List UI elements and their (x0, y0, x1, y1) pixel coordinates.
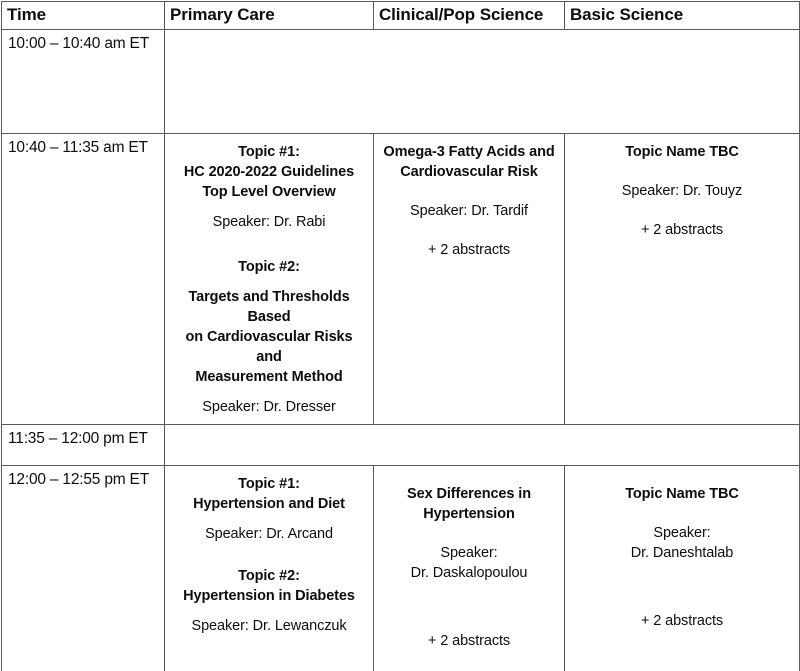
topic-label: Topic #1: (171, 474, 367, 494)
session-block-topic2: Topic #2: Hypertension in Diabetes Speak… (171, 566, 367, 636)
topic-title-line: on Cardiovascular Risks and (171, 327, 367, 367)
abstracts-count: + 2 abstracts (571, 611, 793, 631)
session-cell-clinical-pop-science: Sex Differences in Hypertension Speaker:… (374, 466, 565, 671)
time-slot-label: 12:00 – 12:55 pm ET (2, 466, 164, 489)
session-block-topic2: Topic #2: Targets and Thresholds Based o… (171, 257, 367, 417)
break-label: Break (165, 425, 799, 450)
session-title-line: Hypertension (380, 504, 558, 524)
spacer (571, 563, 793, 611)
spacer (171, 606, 367, 616)
speaker-label: Speaker: Dr. Lewanczuk (171, 616, 367, 636)
speaker-label: Speaker: Dr. Dresser (171, 397, 367, 417)
time-slot-cell: 12:00 – 12:55 pm ET (2, 466, 165, 671)
topic-title-line: HC 2020-2022 Guidelines (171, 162, 367, 182)
speaker-label: Speaker: (380, 543, 558, 563)
session-title-line: Omega-3 Fatty Acids and (380, 142, 558, 162)
column-header-clinical-pop-science-label: Clinical/Pop Science (374, 2, 564, 26)
table-header: Time Primary Care Clinical/Pop Science B… (2, 2, 800, 30)
column-header-time: Time (2, 2, 165, 30)
time-slot-cell: 11:35 – 12:00 pm ET (2, 425, 165, 466)
spacer (380, 524, 558, 543)
topic-label: Topic #2: (171, 566, 367, 586)
session-cell-basic-science: Topic Name TBC Speaker: Dr. Touyz + 2 ab… (565, 134, 800, 425)
session-title-line: Sex Differences in (380, 484, 558, 504)
column-header-primary-care: Primary Care (165, 2, 374, 30)
table-row: 12:00 – 12:55 pm ET Topic #1: Hypertensi… (2, 466, 800, 671)
spacer (571, 474, 793, 484)
speaker-label: Speaker: Dr. Arcand (171, 524, 367, 544)
spacer (571, 504, 793, 523)
abstracts-count: + 2 abstracts (571, 220, 793, 240)
table-row: 11:35 – 12:00 pm ET Break (2, 425, 800, 466)
break-banner-cell: Break (165, 425, 800, 466)
spacer (171, 514, 367, 524)
plenary-banner-cell: Opening Plenary The Changing Landscape o… (165, 30, 800, 134)
time-slot-label: 10:40 – 11:35 am ET (2, 134, 164, 157)
table-row: 10:40 – 11:35 am ET Topic #1: HC 2020-20… (2, 134, 800, 425)
conference-schedule-table: Time Primary Care Clinical/Pop Science B… (1, 1, 800, 671)
abstracts-count: + 2 abstracts (380, 631, 558, 651)
time-slot-cell: 10:00 – 10:40 am ET (2, 30, 165, 134)
column-header-clinical-pop-science: Clinical/Pop Science (374, 2, 565, 30)
spacer (380, 583, 558, 631)
schedule-container: Time Primary Care Clinical/Pop Science B… (0, 0, 800, 671)
spacer (571, 162, 793, 181)
spacer (380, 474, 558, 484)
spacer (171, 387, 367, 397)
time-slot-cell: 10:40 – 11:35 am ET (2, 134, 165, 425)
table-body: 10:00 – 10:40 am ET Opening Plenary The … (2, 30, 800, 671)
speaker-label: Speaker: (571, 523, 793, 543)
topic-label: Topic #2: (171, 257, 367, 277)
spacer (171, 202, 367, 212)
spacer (380, 182, 558, 201)
speaker-label: Dr. Daneshtalab (571, 543, 793, 563)
plenary-speakers: Speakers: Dr. Leung, Dr. Harvey (173, 105, 791, 125)
time-slot-label: 11:35 – 12:00 pm ET (2, 425, 164, 448)
session-block-topic1: Topic #1: Hypertension and Diet Speaker:… (171, 474, 367, 544)
plenary-title: Opening Plenary (173, 36, 791, 56)
spacer (571, 201, 793, 220)
session-title-line: Topic Name TBC (571, 142, 793, 162)
session-cell-basic-science: Topic Name TBC Speaker: Dr. Daneshtalab … (565, 466, 800, 671)
abstracts-count: + 2 abstracts (380, 240, 558, 260)
speaker-label: Speaker: Dr. Touyz (571, 181, 793, 201)
column-header-time-label: Time (2, 2, 164, 26)
session-cell-primary-care: Topic #1: Hypertension and Diet Speaker:… (165, 466, 374, 671)
topic-title-line: Measurement Method (171, 367, 367, 387)
session-block-topic1: Topic #1: HC 2020-2022 Guidelines Top Le… (171, 142, 367, 232)
session-title-line: Cardiovascular Risk (380, 162, 558, 182)
session-cell-primary-care: Topic #1: HC 2020-2022 Guidelines Top Le… (165, 134, 374, 425)
topic-label: Topic #1: (171, 142, 367, 162)
plenary-subtitle: The Changing Landscape of Hypertension i… (173, 59, 791, 79)
speaker-label: Speaker: Dr. Rabi (171, 212, 367, 232)
column-header-basic-science: Basic Science (565, 2, 800, 30)
spacer (380, 221, 558, 240)
session-title-line: Topic Name TBC (571, 484, 793, 504)
time-slot-label: 10:00 – 10:40 am ET (2, 30, 164, 53)
topic-title-line: Hypertension and Diet (171, 494, 367, 514)
speaker-label: Speaker: Dr. Tardif (380, 201, 558, 221)
spacer (171, 277, 367, 287)
column-header-basic-science-label: Basic Science (565, 2, 799, 26)
session-cell-clinical-pop-science: Omega-3 Fatty Acids and Cardiovascular R… (374, 134, 565, 425)
topic-title-line: Targets and Thresholds Based (171, 287, 367, 327)
speaker-label: Dr. Daskalopoulou (380, 563, 558, 583)
table-row: 10:00 – 10:40 am ET Opening Plenary The … (2, 30, 800, 134)
header-row: Time Primary Care Clinical/Pop Science B… (2, 2, 800, 30)
column-header-primary-care-label: Primary Care (165, 2, 373, 26)
topic-title-line: Top Level Overview (171, 182, 367, 202)
topic-title-line: Hypertension in Diabetes (171, 586, 367, 606)
